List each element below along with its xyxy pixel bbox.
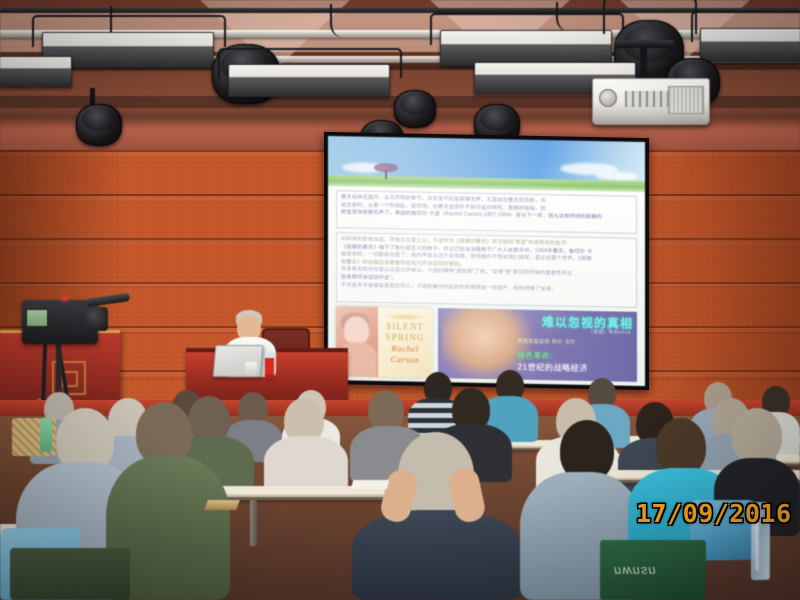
green-tote-bag: nwnsn	[600, 540, 706, 600]
portrait-face	[344, 316, 369, 344]
notebook	[204, 500, 240, 510]
camera-date-stamp: 17/09/2016	[636, 499, 792, 528]
audience-head	[732, 408, 782, 464]
projector-lens-icon	[599, 89, 617, 107]
par-can-lamp	[394, 90, 436, 128]
olive-bag	[10, 548, 130, 600]
presenter-water-bottle	[265, 352, 274, 379]
record-led-icon	[62, 296, 67, 301]
par-can-lamp	[76, 104, 122, 146]
green-bottle	[40, 418, 52, 452]
book-author-line1: Rachel	[391, 343, 418, 354]
slide-textbox-2: 对科学的影响深远，环保主义者之父。卡逊作为《寂静的春天》中文版的"前言"中这样评…	[336, 232, 637, 308]
book-cover-text: SILENT SPRING Rachel Carson	[378, 307, 432, 378]
slide-textbox-1: 春天是种花盛开、百鸟齐鸣的季节，白天里不应是寂静无声，尤其是在春天的田野，可 是…	[336, 190, 637, 234]
projector-vent	[668, 86, 704, 114]
fixture-body	[228, 64, 390, 97]
tote-bag-text: nwnsn	[614, 564, 657, 579]
stage-light-fixture	[0, 56, 70, 106]
projector-controls	[625, 91, 669, 107]
audience-torso	[352, 510, 522, 600]
projection-screen-frame: 春天是种花盛开、百鸟齐鸣的季节，白天里不应是寂静无声，尤其是在春天的田野，可 是…	[324, 132, 649, 390]
book-author-line2: Carson	[391, 354, 420, 365]
banner-headline-line2: 21世纪的战略经济	[518, 362, 588, 374]
banner-subtitle: （美国）年份2015	[588, 329, 631, 336]
banner-author-line: 美国前副总统 阿尔·戈尔	[518, 338, 576, 346]
ceiling-truss-area	[0, 0, 800, 150]
lamp-face	[400, 93, 430, 115]
projector-mount-pole	[640, 46, 647, 80]
slide-media-row: SILENT SPRING Rachel Carson 难以忽视的真相 （美国）…	[336, 306, 637, 382]
camera-lcd-screen	[26, 309, 48, 327]
fixture-body	[0, 56, 72, 87]
fixture-body	[440, 30, 612, 66]
banner-headline-line1: 绿色革命：	[518, 350, 558, 362]
projection-screen: 春天是种花盛开、百鸟齐鸣的季节，白天里不应是寂静无声，尤其是在春天的田野，可 是…	[328, 136, 645, 386]
camera-lens-icon	[86, 307, 108, 331]
lamp-face	[82, 107, 115, 131]
slide-body: 春天是种花盛开、百鸟齐鸣的季节，白天里不应是寂静无声，尤其是在春天的田野，可 是…	[328, 186, 645, 386]
tree-icon	[374, 163, 398, 179]
presenter-cup	[245, 362, 257, 376]
gore-book-banner: 难以忽视的真相 （美国）年份2015 美国前副总统 阿尔·戈尔 绿色革命： 21…	[438, 308, 637, 382]
tree-trunk	[385, 170, 387, 179]
video-camera	[22, 300, 98, 344]
lecture-hall-photo: 春天是种花盛开、百鸟齐鸣的季节，白天里不应是寂静无声，尤其是在春天的田野，可 是…	[0, 0, 800, 600]
silent-spring-book-cover: SILENT SPRING Rachel Carson	[336, 306, 432, 378]
book-title-line1: SILENT	[386, 321, 424, 332]
power-cable	[330, 4, 348, 38]
desk-leg	[250, 500, 257, 546]
ceiling-projector	[592, 78, 710, 125]
stage-light-fixture	[228, 64, 388, 118]
book-title-line2: SPRING	[386, 332, 425, 343]
slide-header-sky	[328, 136, 645, 192]
paper-sheet	[351, 480, 390, 489]
